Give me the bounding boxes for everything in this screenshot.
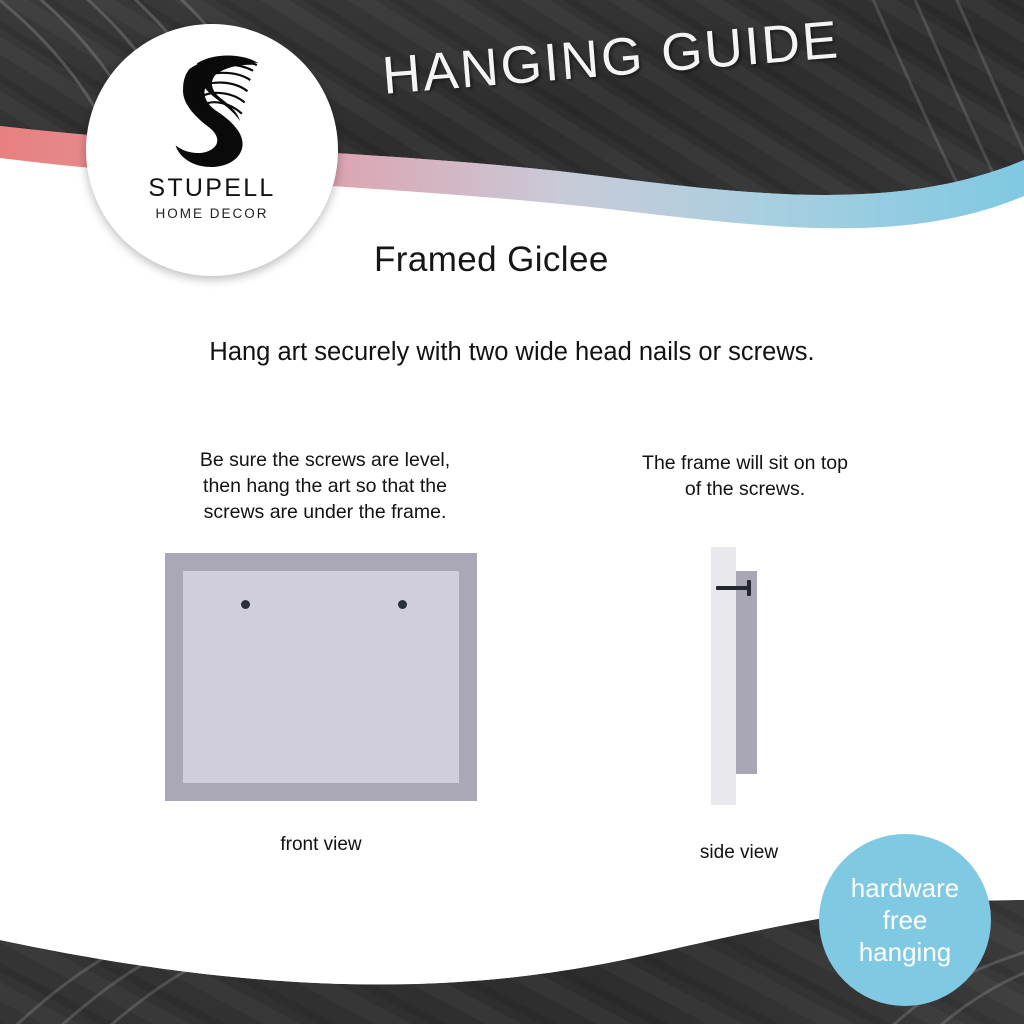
side-caption-line-2: of the screws.	[595, 476, 895, 502]
front-view-art-mat	[183, 571, 459, 783]
front-view-caption: Be sure the screws are level, then hang …	[150, 447, 500, 525]
badge-line-3: hanging	[859, 936, 952, 968]
brand-logo-badge: STUPELL HOME DECOR	[86, 24, 338, 276]
page-title: HANGING GUIDE	[380, 4, 903, 107]
side-caption-line-1: The frame will sit on top	[595, 450, 895, 476]
primary-instruction: Hang art securely with two wide head nai…	[0, 338, 1024, 367]
nail-head-icon	[747, 580, 751, 596]
badge-line-1: hardware	[851, 872, 959, 904]
front-caption-line-3: screws are under the frame.	[150, 499, 500, 525]
screw-dot-right	[398, 600, 407, 609]
swoosh-s-icon	[156, 50, 268, 168]
side-view-label: side view	[634, 842, 844, 864]
hardware-free-hanging-badge: hardware free hanging	[819, 834, 991, 1006]
side-view-caption: The frame will sit on top of the screws.	[595, 450, 895, 502]
logo-tagline: HOME DECOR	[155, 206, 268, 221]
logo-brand-name: STUPELL	[148, 174, 275, 203]
nail-shaft-icon	[716, 586, 751, 590]
badge-line-2: free	[883, 904, 928, 936]
side-view-frame	[736, 571, 757, 774]
front-caption-line-1: Be sure the screws are level,	[150, 447, 500, 473]
product-type-label: Framed Giclee	[374, 240, 609, 280]
hanging-guide-page: STUPELL HOME DECOR HANGING GUIDE Framed …	[0, 0, 1024, 1024]
front-view-label: front view	[171, 834, 471, 856]
front-view-frame-diagram	[165, 553, 477, 801]
front-caption-line-2: then hang the art so that the	[150, 473, 500, 499]
screw-dot-left	[241, 600, 250, 609]
